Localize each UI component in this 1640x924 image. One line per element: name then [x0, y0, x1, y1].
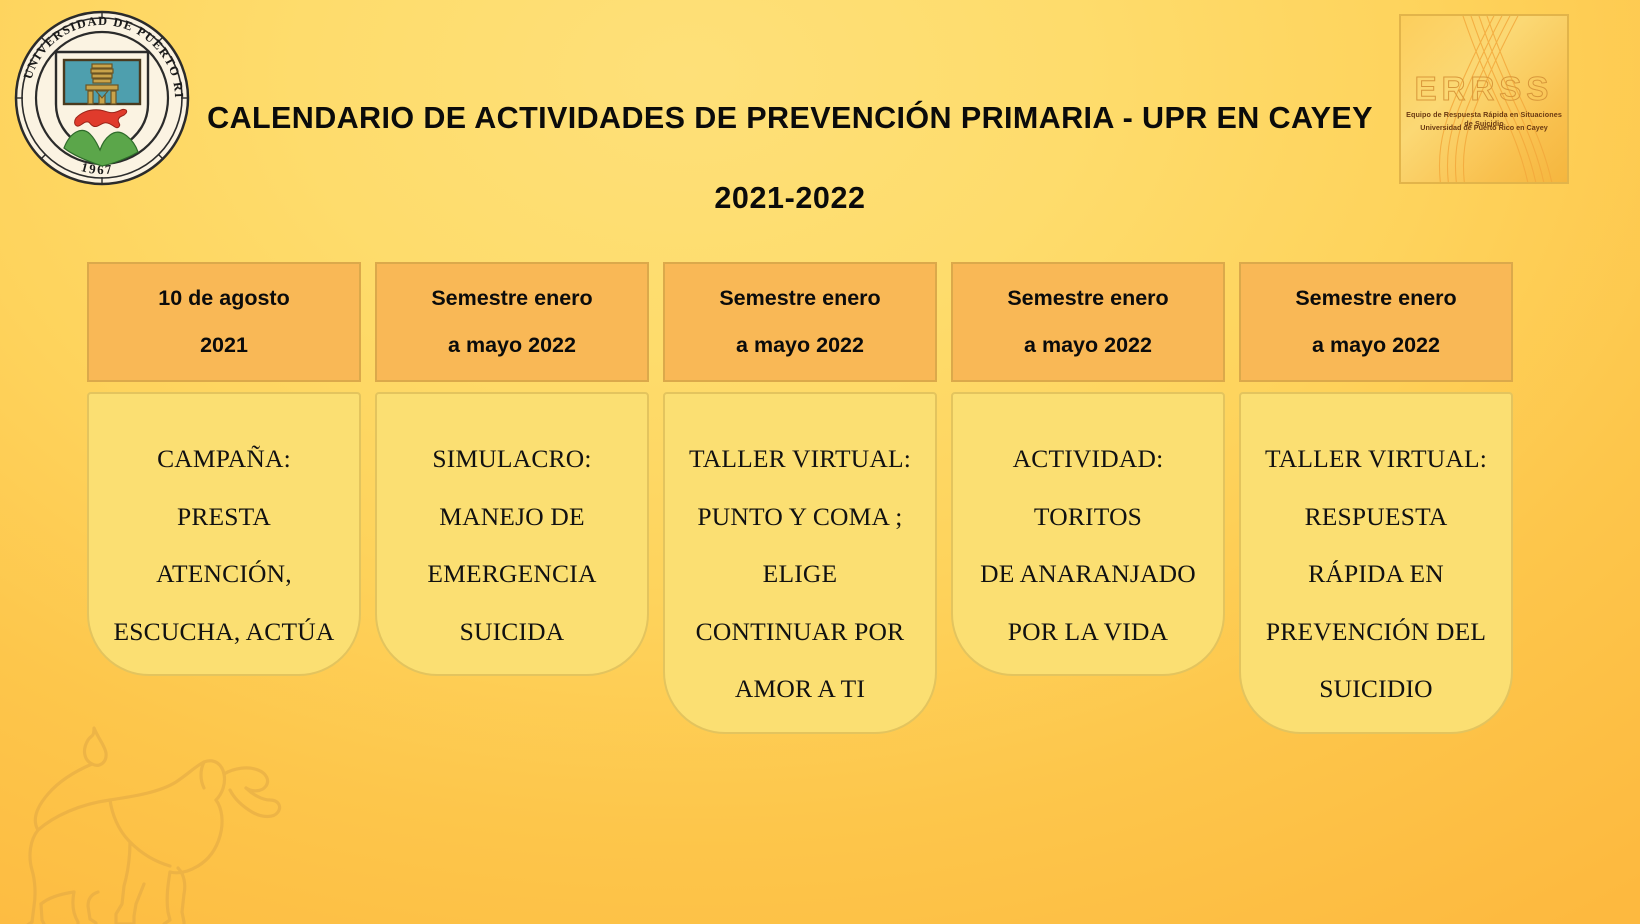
card-body-line: AMOR A TI [735, 676, 865, 702]
torito-bull-outline-icon [8, 708, 308, 924]
calendar-card: 10 de agosto 2021 CAMPAÑA: PRESTA ATENCI… [87, 262, 361, 676]
card-body-line: EMERGENCIA [427, 561, 596, 587]
card-body: TALLER VIRTUAL: PUNTO Y COMA ; ELIGE CON… [663, 392, 937, 734]
title-block: CALENDARIO DE ACTIVIDADES DE PREVENCIÓN … [190, 100, 1390, 216]
calendar-card: Semestre enero a mayo 2022 TALLER VIRTUA… [663, 262, 937, 734]
card-header-line: a mayo 2022 [448, 335, 576, 357]
card-header-line: Semestre enero [1295, 288, 1456, 310]
card-body-line: PUNTO Y COMA ; [697, 504, 902, 530]
card-header: 10 de agosto 2021 [87, 262, 361, 382]
calendar-card: Semestre enero a mayo 2022 TALLER VIRTUA… [1239, 262, 1513, 734]
calendar-card: Semestre enero a mayo 2022 ACTIVIDAD: TO… [951, 262, 1225, 676]
card-body-line: RÁPIDA EN [1308, 561, 1444, 587]
card-header-line: Semestre enero [719, 288, 880, 310]
card-body-line: SUICIDA [460, 619, 565, 645]
card-body: TALLER VIRTUAL: RESPUESTA RÁPIDA EN PREV… [1239, 392, 1513, 734]
errss-logo: ERRSS Equipo de Respuesta Rápida en Situ… [1399, 14, 1569, 184]
card-header: Semestre enero a mayo 2022 [951, 262, 1225, 382]
card-body-line: SUICIDIO [1319, 676, 1433, 702]
card-body: CAMPAÑA: PRESTA ATENCIÓN, ESCUCHA, ACTÚA [87, 392, 361, 676]
errss-acronym: ERRSS [1401, 70, 1567, 108]
calendar-cards-row: 10 de agosto 2021 CAMPAÑA: PRESTA ATENCI… [87, 262, 1553, 734]
card-header: Semestre enero a mayo 2022 [375, 262, 649, 382]
card-body-line: ACTIVIDAD: [1013, 446, 1164, 472]
poster-canvas: UNIVERSIDAD DE PUERTO RICO EN CAYEY 1967 [0, 0, 1640, 924]
card-body: SIMULACRO: MANEJO DE EMERGENCIA SUICIDA [375, 392, 649, 676]
card-body-line: RESPUESTA [1305, 504, 1448, 530]
upr-cayey-seal-icon: UNIVERSIDAD DE PUERTO RICO EN CAYEY 1967 [12, 8, 192, 188]
page-title: CALENDARIO DE ACTIVIDADES DE PREVENCIÓN … [190, 100, 1390, 137]
card-header-line: Semestre enero [1007, 288, 1168, 310]
card-body-line: MANEJO DE [439, 504, 585, 530]
card-body-line: PREVENCIÓN DEL [1266, 619, 1486, 645]
card-body-line: TORITOS [1034, 504, 1142, 530]
card-body-line: ESCUCHA, ACTÚA [114, 619, 335, 645]
card-body-line: TALLER VIRTUAL: [689, 446, 911, 472]
card-body-line: ATENCIÓN, [156, 561, 292, 587]
card-body: ACTIVIDAD: TORITOS DE ANARANJADO POR LA … [951, 392, 1225, 676]
errss-subtitle-line-2: Universidad de Puerto Rico en Cayey [1403, 123, 1565, 132]
card-header-line: 2021 [200, 335, 248, 357]
card-header: Semestre enero a mayo 2022 [1239, 262, 1513, 382]
card-header-line: a mayo 2022 [736, 335, 864, 357]
page-subtitle: 2021-2022 [190, 181, 1390, 216]
card-body-line: CONTINUAR POR [696, 619, 905, 645]
card-body-line: PRESTA [177, 504, 271, 530]
card-body-line: SIMULACRO: [432, 446, 591, 472]
card-header-line: Semestre enero [431, 288, 592, 310]
card-body-line: POR LA VIDA [1008, 619, 1168, 645]
card-body-line: DE ANARANJADO [980, 561, 1196, 587]
card-header-line: 10 de agosto [158, 288, 289, 310]
card-body-line: TALLER VIRTUAL: [1265, 446, 1487, 472]
calendar-card: Semestre enero a mayo 2022 SIMULACRO: MA… [375, 262, 649, 676]
card-header-line: a mayo 2022 [1312, 335, 1440, 357]
card-body-line: ELIGE [763, 561, 838, 587]
card-header-line: a mayo 2022 [1024, 335, 1152, 357]
card-body-line: CAMPAÑA: [157, 446, 291, 472]
card-header: Semestre enero a mayo 2022 [663, 262, 937, 382]
